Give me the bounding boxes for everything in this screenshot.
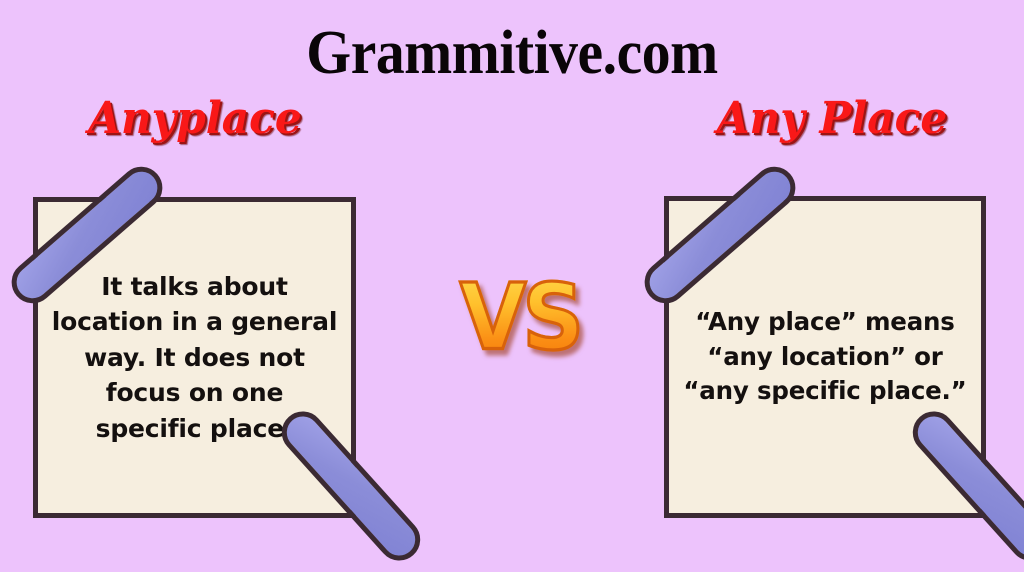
right-definition-text: “Any place” means “any location” or “any…	[669, 305, 981, 409]
site-title: Grammitive.com	[36, 22, 988, 84]
versus-badge: VS	[432, 258, 608, 378]
versus-label: VS	[460, 272, 581, 363]
comparison-graphic: Grammitive.com Anyplace Any Place It tal…	[0, 0, 1024, 572]
left-term-heading: Anyplace	[8, 96, 382, 142]
right-term-heading: Any Place	[648, 96, 1017, 142]
